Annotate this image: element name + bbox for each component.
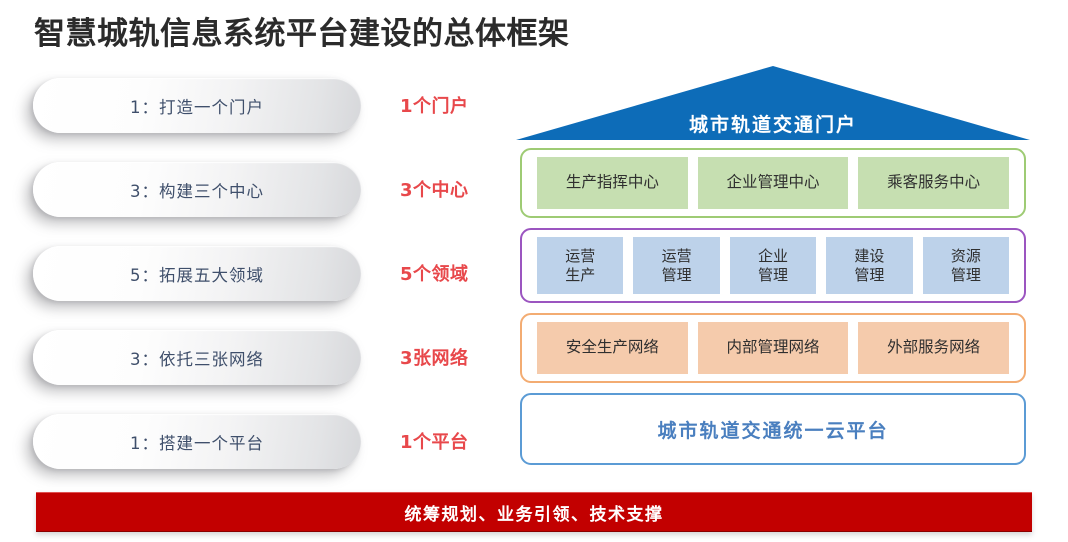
center-cell[interactable]: 乘客服务中心 bbox=[858, 157, 1009, 209]
domain-cell-line2: 生产 bbox=[565, 266, 595, 284]
domain-cell-line2: 管理 bbox=[758, 266, 788, 284]
page-title: 智慧城轨信息系统平台建设的总体框架 bbox=[34, 8, 570, 53]
pill-centers[interactable]: 3：构建三个中心 bbox=[33, 162, 361, 217]
center-cell[interactable]: 企业管理中心 bbox=[698, 157, 849, 209]
domain-cell-line2: 管理 bbox=[951, 266, 981, 284]
right-column: 城市轨道交通门户 生产指挥中心 企业管理中心 乘客服务中心 运营生产 运营管理 … bbox=[512, 60, 1034, 480]
domain-cell[interactable]: 运营管理 bbox=[633, 237, 719, 294]
pill-domains[interactable]: 5：拓展五大领域 bbox=[33, 246, 361, 301]
portal-roof: 城市轨道交通门户 bbox=[512, 60, 1034, 146]
pill-label: 5：拓展五大领域 bbox=[130, 262, 264, 286]
left-column: 1：打造一个门户 1个门户 3：构建三个中心 3个中心 5：拓展五大领域 5个领… bbox=[0, 76, 500, 476]
pill-label: 1：搭建一个平台 bbox=[130, 430, 264, 454]
domain-cell-line1: 运营 bbox=[565, 247, 595, 265]
domain-cell[interactable]: 运营生产 bbox=[537, 237, 623, 294]
domain-cell[interactable]: 资源管理 bbox=[923, 237, 1009, 294]
count-label-portal: 1个门户 bbox=[400, 92, 469, 118]
pill-platform[interactable]: 1：搭建一个平台 bbox=[33, 414, 361, 469]
domain-cell-line2: 管理 bbox=[854, 266, 884, 284]
pill-label: 3：构建三个中心 bbox=[130, 178, 264, 202]
roof-triangle-icon bbox=[512, 60, 1034, 146]
pill-row-2: 3：构建三个中心 3个中心 bbox=[0, 160, 500, 222]
domain-cell[interactable]: 建设管理 bbox=[826, 237, 912, 294]
platform-label: 城市轨道交通统一云平台 bbox=[657, 416, 888, 443]
domains-band: 运营生产 运营管理 企业管理 建设管理 资源管理 bbox=[520, 228, 1026, 303]
count-label-networks: 3张网络 bbox=[400, 344, 469, 370]
platform-band: 城市轨道交通统一云平台 bbox=[520, 393, 1026, 465]
pill-row-4: 3：依托三张网络 3张网络 bbox=[0, 328, 500, 390]
bottom-banner: 统筹规划、业务引领、技术支撑 bbox=[36, 492, 1032, 532]
networks-band: 安全生产网络 内部管理网络 外部服务网络 bbox=[520, 313, 1026, 383]
network-cell[interactable]: 内部管理网络 bbox=[698, 322, 849, 374]
pill-networks[interactable]: 3：依托三张网络 bbox=[33, 330, 361, 385]
domain-cell[interactable]: 企业管理 bbox=[730, 237, 816, 294]
domain-cell-line1: 企业 bbox=[758, 247, 788, 265]
bottom-banner-text: 统筹规划、业务引领、技术支撑 bbox=[405, 500, 664, 525]
pill-row-1: 1：打造一个门户 1个门户 bbox=[0, 76, 500, 138]
count-label-domains: 5个领域 bbox=[400, 260, 469, 286]
network-cell[interactable]: 外部服务网络 bbox=[858, 322, 1009, 374]
pill-row-5: 1：搭建一个平台 1个平台 bbox=[0, 412, 500, 474]
count-label-platform: 1个平台 bbox=[400, 428, 469, 454]
pill-label: 3：依托三张网络 bbox=[130, 346, 264, 370]
domain-cell-line1: 资源 bbox=[951, 247, 981, 265]
pill-label: 1：打造一个门户 bbox=[130, 94, 264, 118]
pill-row-3: 5：拓展五大领域 5个领域 bbox=[0, 244, 500, 306]
domain-cell-line2: 管理 bbox=[662, 266, 692, 284]
center-cell[interactable]: 生产指挥中心 bbox=[537, 157, 688, 209]
domain-cell-line1: 建设 bbox=[854, 247, 884, 265]
pill-portal[interactable]: 1：打造一个门户 bbox=[33, 78, 361, 133]
network-cell[interactable]: 安全生产网络 bbox=[537, 322, 688, 374]
count-label-centers: 3个中心 bbox=[400, 176, 469, 202]
domain-cell-line1: 运营 bbox=[662, 247, 692, 265]
centers-band: 生产指挥中心 企业管理中心 乘客服务中心 bbox=[520, 148, 1026, 218]
